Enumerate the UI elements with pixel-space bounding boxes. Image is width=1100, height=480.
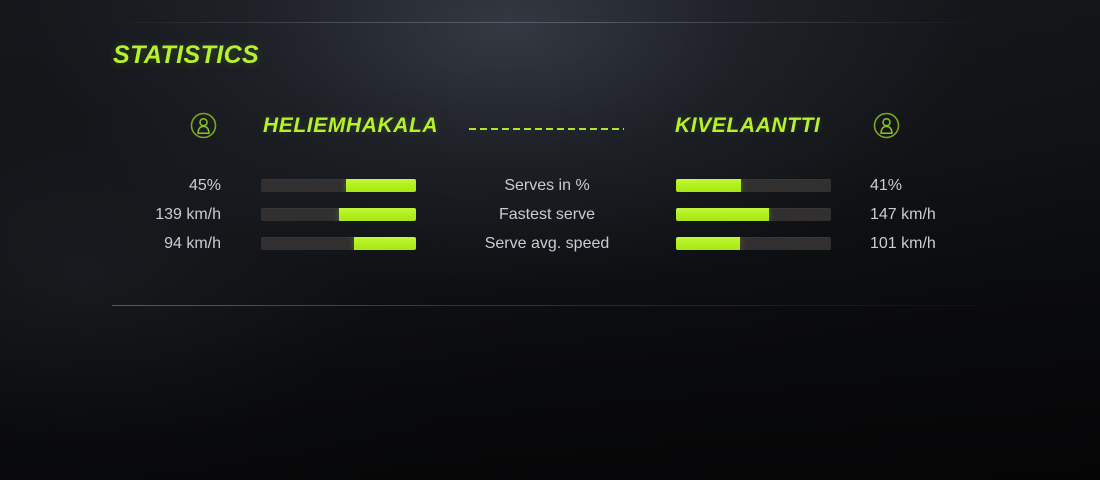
stat-bar-right xyxy=(676,237,831,250)
stat-value-left: 139 km/h xyxy=(112,205,221,224)
top-divider xyxy=(112,22,978,23)
stat-label: Serve avg. speed xyxy=(432,234,662,253)
stats-list: 45% Serves in % 41% 139 km/h Fastest ser… xyxy=(112,176,978,263)
player-name-left: HELIEMHAKALA xyxy=(263,114,438,138)
stat-value-right: 147 km/h xyxy=(870,205,1000,224)
stat-value-right: 41% xyxy=(870,176,1000,195)
stat-bar-fill-right xyxy=(676,208,769,221)
players-header: HELIEMHAKALA KIVELAANTTI xyxy=(112,108,978,152)
player-name-right: KIVELAANTTI xyxy=(675,114,820,138)
stat-bar-fill-left xyxy=(354,237,416,250)
stat-bar-right xyxy=(676,208,831,221)
stat-bar-right xyxy=(676,179,831,192)
stat-bar-left xyxy=(261,237,416,250)
bottom-divider xyxy=(112,305,978,306)
stat-row: 45% Serves in % 41% xyxy=(112,176,978,205)
stat-label: Fastest serve xyxy=(432,205,662,224)
page-title: STATISTICS xyxy=(113,41,259,70)
stat-value-right: 101 km/h xyxy=(870,234,1000,253)
stat-bar-fill-left xyxy=(339,208,417,221)
person-avatar-icon xyxy=(873,112,900,139)
stat-row: 94 km/h Serve avg. speed 101 km/h xyxy=(112,234,978,263)
person-avatar-icon xyxy=(190,112,217,139)
stat-bar-fill-right xyxy=(676,237,740,250)
statistics-panel: STATISTICS HELIEMHAKALA KIVELAANTTI 45% xyxy=(0,0,1100,480)
stat-bar-fill-left xyxy=(346,179,416,192)
players-separator xyxy=(469,128,624,130)
stat-row: 139 km/h Fastest serve 147 km/h xyxy=(112,205,978,234)
stat-value-left: 94 km/h xyxy=(112,234,221,253)
stat-bar-fill-right xyxy=(676,179,741,192)
stat-value-left: 45% xyxy=(112,176,221,195)
stat-bar-left xyxy=(261,208,416,221)
stat-label: Serves in % xyxy=(432,176,662,195)
stat-bar-left xyxy=(261,179,416,192)
